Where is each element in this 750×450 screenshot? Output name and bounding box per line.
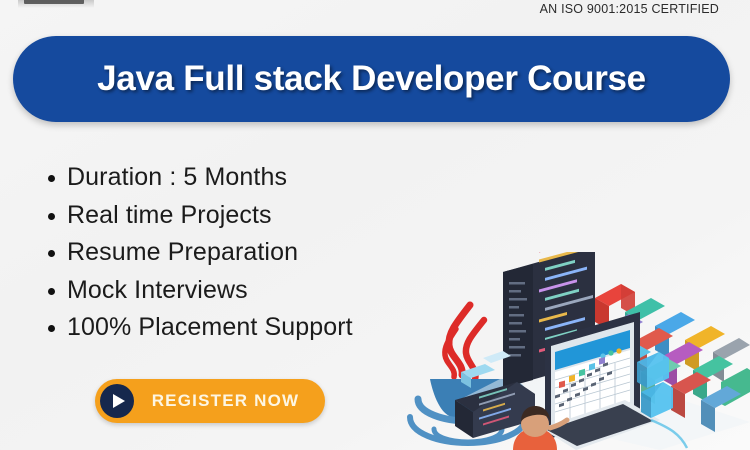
feature-label: Resume Preparation (67, 238, 298, 266)
list-item: Mock Interviews (45, 272, 353, 310)
course-poster: AN ISO 9001:2015 CERTIFIED Java Full sta… (0, 0, 750, 450)
feature-label: 100% Placement Support (67, 313, 353, 341)
bullet-dot-icon (48, 288, 55, 295)
iso-certification-text: AN ISO 9001:2015 CERTIFIED (540, 2, 719, 16)
partial-logo-crop (24, 0, 84, 4)
register-now-button[interactable]: REGISTER NOW (95, 379, 325, 423)
list-item: 100% Placement Support (45, 309, 353, 347)
isometric-web-development-illustration (455, 252, 750, 450)
play-triangle-icon (100, 384, 134, 418)
title-banner: Java Full stack Developer Course (13, 36, 730, 122)
feature-label: Real time Projects (67, 201, 272, 229)
background-watermark (392, 152, 692, 262)
bullet-dot-icon (48, 250, 55, 257)
register-now-label: REGISTER NOW (134, 391, 325, 411)
bullet-dot-icon (48, 325, 55, 332)
list-item: Real time Projects (45, 197, 353, 235)
bullet-dot-icon (48, 175, 55, 182)
feature-label: Mock Interviews (67, 276, 248, 304)
feature-label: Duration : 5 Months (67, 163, 287, 191)
page-title: Java Full stack Developer Course (97, 59, 646, 99)
bullet-dot-icon (48, 213, 55, 220)
list-item: Duration : 5 Months (45, 159, 353, 197)
list-item: Resume Preparation (45, 234, 353, 272)
feature-list: Duration : 5 Months Real time Projects R… (45, 159, 353, 347)
